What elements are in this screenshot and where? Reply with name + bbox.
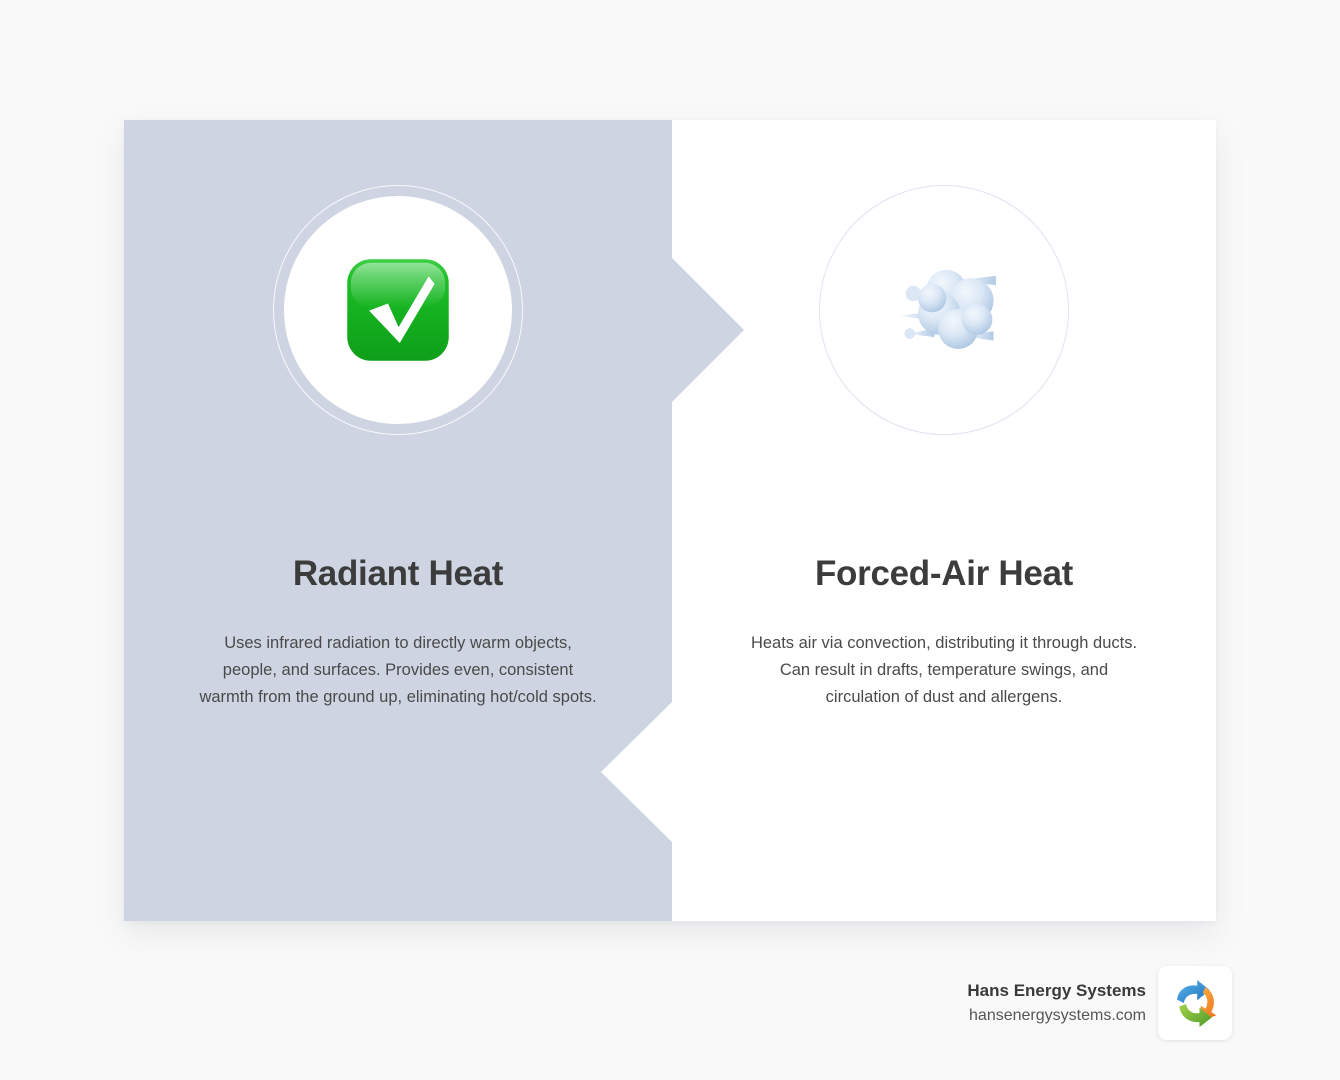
panel-title: Forced-Air Heat: [815, 555, 1073, 594]
green-check-mark-icon: [339, 251, 457, 369]
panel-radiant-heat: Radiant Heat Uses infrared radiation to …: [124, 120, 672, 921]
dashing-away-dust-cloud-icon: [885, 251, 1003, 369]
panel-forced-air-heat: Forced-Air Heat Heats air via convection…: [672, 120, 1216, 921]
brand-text-block: Hans Energy Systems hansenergysystems.co…: [967, 978, 1146, 1028]
brand-footer: Hans Energy Systems hansenergysystems.co…: [967, 966, 1232, 1040]
brand-logo-tile: [1158, 966, 1232, 1040]
brand-url[interactable]: hansenergysystems.com: [967, 1003, 1146, 1028]
forced-air-icon-badge: [819, 185, 1069, 435]
panel-description: Heats air via convection, distributing i…: [744, 630, 1144, 711]
brand-name: Hans Energy Systems: [967, 978, 1146, 1003]
panel-title: Radiant Heat: [293, 555, 503, 594]
comparison-card: Radiant Heat Uses infrared radiation to …: [124, 120, 1216, 921]
radiant-icon-badge: [273, 185, 523, 435]
panel-description: Uses infrared radiation to directly warm…: [198, 630, 598, 711]
recycle-arrows-logo: [1167, 975, 1223, 1031]
